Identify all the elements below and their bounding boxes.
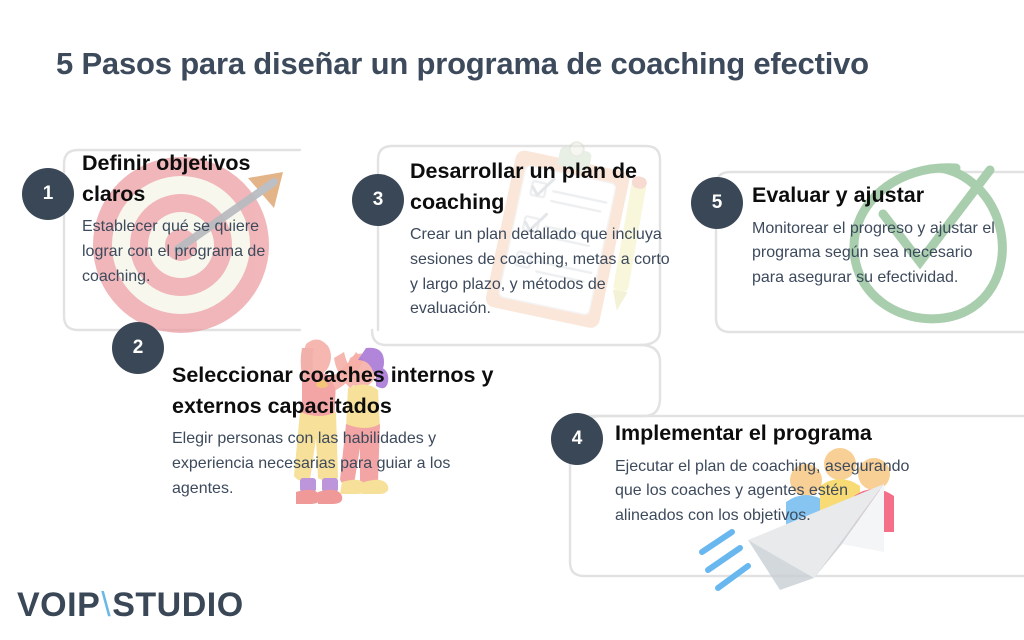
step-badge-2[interactable]: 2	[112, 322, 164, 374]
infographic-canvas: 5 Pasos para diseñar un programa de coac…	[0, 0, 1024, 640]
step-description-4: Ejecutar el plan de coaching, asegurando…	[615, 455, 917, 529]
step-badge-4[interactable]: 4	[551, 413, 603, 465]
voipstudio-logo[interactable]: VOIP \ STUDIO	[17, 586, 244, 625]
step-heading-2: Seleccionar coaches internos y externos …	[172, 360, 502, 421]
step-description-5: Monitorear el progreso y ajustar el prog…	[752, 217, 1007, 291]
step-badge-5[interactable]: 5	[691, 177, 743, 229]
step-heading-3: Desarrollar un plan de coaching	[410, 156, 672, 217]
step-description-1: Establecer qué se quiere lograr con el p…	[82, 215, 294, 289]
step-heading-5: Evaluar y ajustar	[752, 180, 1007, 211]
logo-slash-icon: \	[100, 586, 112, 625]
step-description-2: Elegir personas con las habilidades y ex…	[172, 427, 502, 501]
logo-text-voip: VOIP	[17, 586, 100, 625]
step-badge-1[interactable]: 1	[22, 168, 74, 220]
logo-text-studio: STUDIO	[112, 586, 243, 625]
step-heading-4: Implementar el programa	[615, 418, 917, 449]
step-heading-1: Definir objetivos claros	[82, 148, 294, 209]
step-description-3: Crear un plan detallado que incluya sesi…	[410, 223, 672, 322]
step-badge-3[interactable]: 3	[352, 174, 404, 226]
